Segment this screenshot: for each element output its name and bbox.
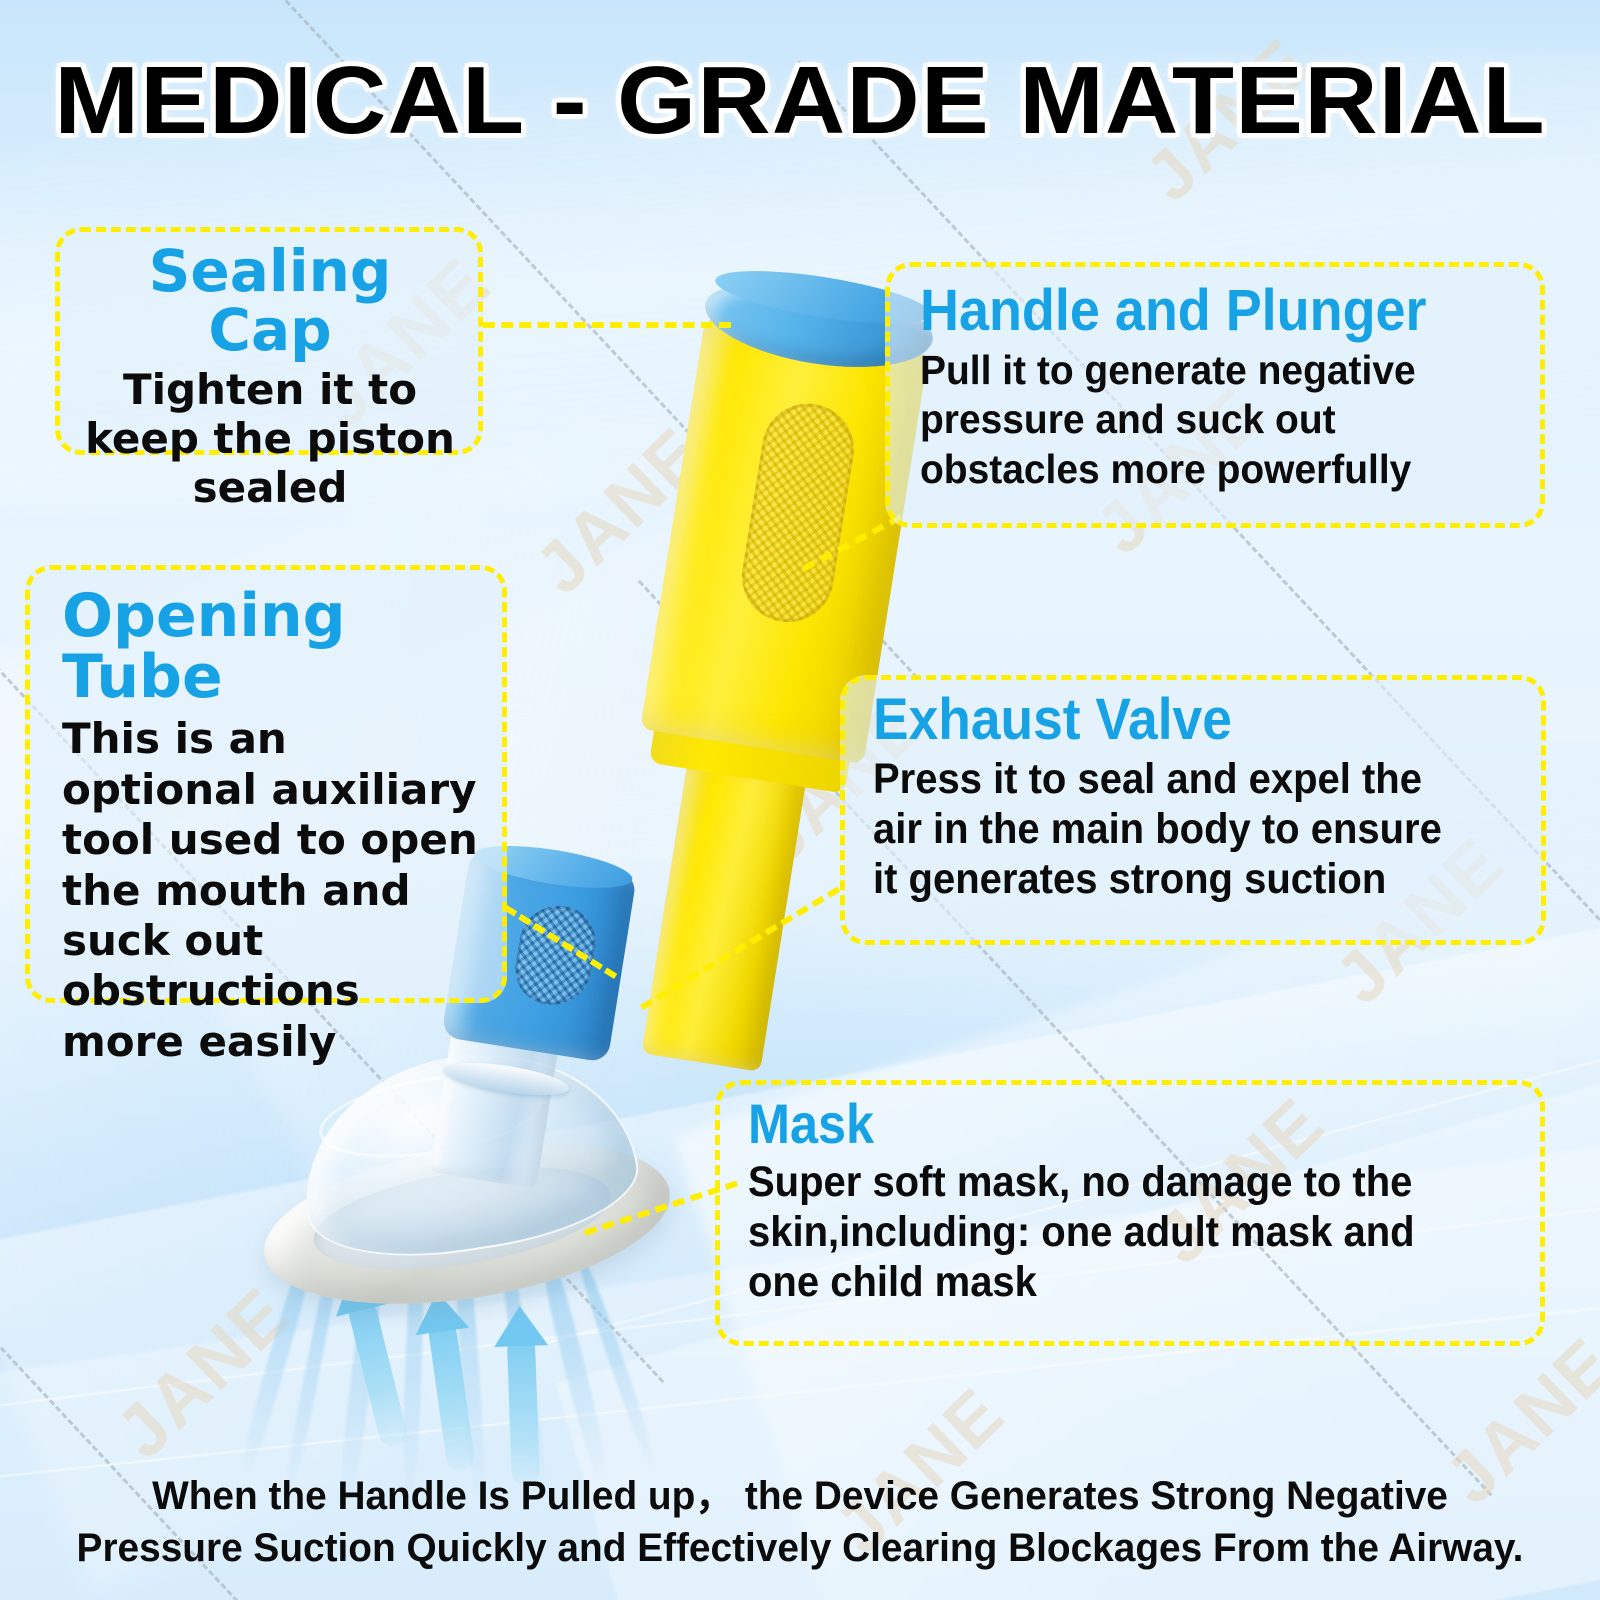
airflow-arrow-left <box>346 1297 409 1449</box>
callout-title-handle-and-plunger: Handle and Plunger <box>920 281 1478 340</box>
mask-dome <box>287 1031 647 1275</box>
airflow-ray <box>574 1256 659 1469</box>
callout-title-exhaust-valve: Exhaust Valve <box>873 690 1469 749</box>
callout-body-opening-tube: This is an optional auxiliary tool used … <box>62 714 482 1067</box>
airflow-arrow-center <box>427 1320 476 1472</box>
airflow-ray <box>536 1250 611 1478</box>
callout-title-sealing-cap: Sealing Cap <box>82 242 458 360</box>
callout-body-exhaust-valve: Press it to seal and expel the air in th… <box>873 755 1476 905</box>
callout-opening-tube[interactable]: Opening Tube This is an optional auxilia… <box>25 565 507 1003</box>
leader-line-exhaust-valve <box>640 887 840 1011</box>
callout-body-mask: Super soft mask, no damage to the skin,i… <box>748 1158 1466 1308</box>
airflow-arrow-right <box>507 1336 540 1487</box>
leader-line-sealing-cap <box>483 322 731 328</box>
callout-sealing-cap[interactable]: Sealing Cap Tighten it to keep the pisto… <box>55 227 483 455</box>
mask-dome-highlight <box>313 1061 548 1171</box>
airflow-ray <box>452 1239 487 1490</box>
mask-cushion-inner <box>307 1149 618 1287</box>
airflow-ray <box>496 1245 549 1485</box>
footer-caption: When the Handle Is Pulled up， the Device… <box>24 1470 1576 1574</box>
callout-handle-and-plunger[interactable]: Handle and Plunger Pull it to generate n… <box>885 262 1545 528</box>
leader-line-opening-tube <box>504 905 617 979</box>
airflow-ray <box>336 1239 388 1499</box>
airflow-ray <box>401 1238 426 1493</box>
footer-line-1: When the Handle Is Pulled up， the Device… <box>24 1470 1576 1522</box>
callout-body-handle-and-plunger: Pull it to generate negative pressure an… <box>920 346 1490 494</box>
plunger-shaft <box>641 757 806 1072</box>
watermark-jane-3: JANE <box>520 412 721 610</box>
footer-line-2: Pressure Suction Quickly and Effectively… <box>24 1522 1576 1574</box>
handle-grip-pad <box>735 397 860 629</box>
callout-title-opening-tube: Opening Tube <box>62 586 482 708</box>
page-title: MEDICAL - GRADE MATERIAL <box>0 46 1600 156</box>
callout-mask[interactable]: Mask Super soft mask, no damage to the s… <box>715 1080 1545 1346</box>
callout-title-mask: Mask <box>748 1095 1443 1152</box>
infographic-canvas: JANE JANE JANE JANE JANE JANE JANE JANE … <box>0 0 1600 1600</box>
barrel-shoulder <box>649 717 852 793</box>
leader-line-handle <box>802 514 902 571</box>
callout-body-sealing-cap: Tighten it to keep the piston sealed <box>82 366 458 512</box>
airflow-ray <box>237 1248 318 1474</box>
callout-exhaust-valve[interactable]: Exhaust Valve Press it to seal and expel… <box>840 675 1546 945</box>
